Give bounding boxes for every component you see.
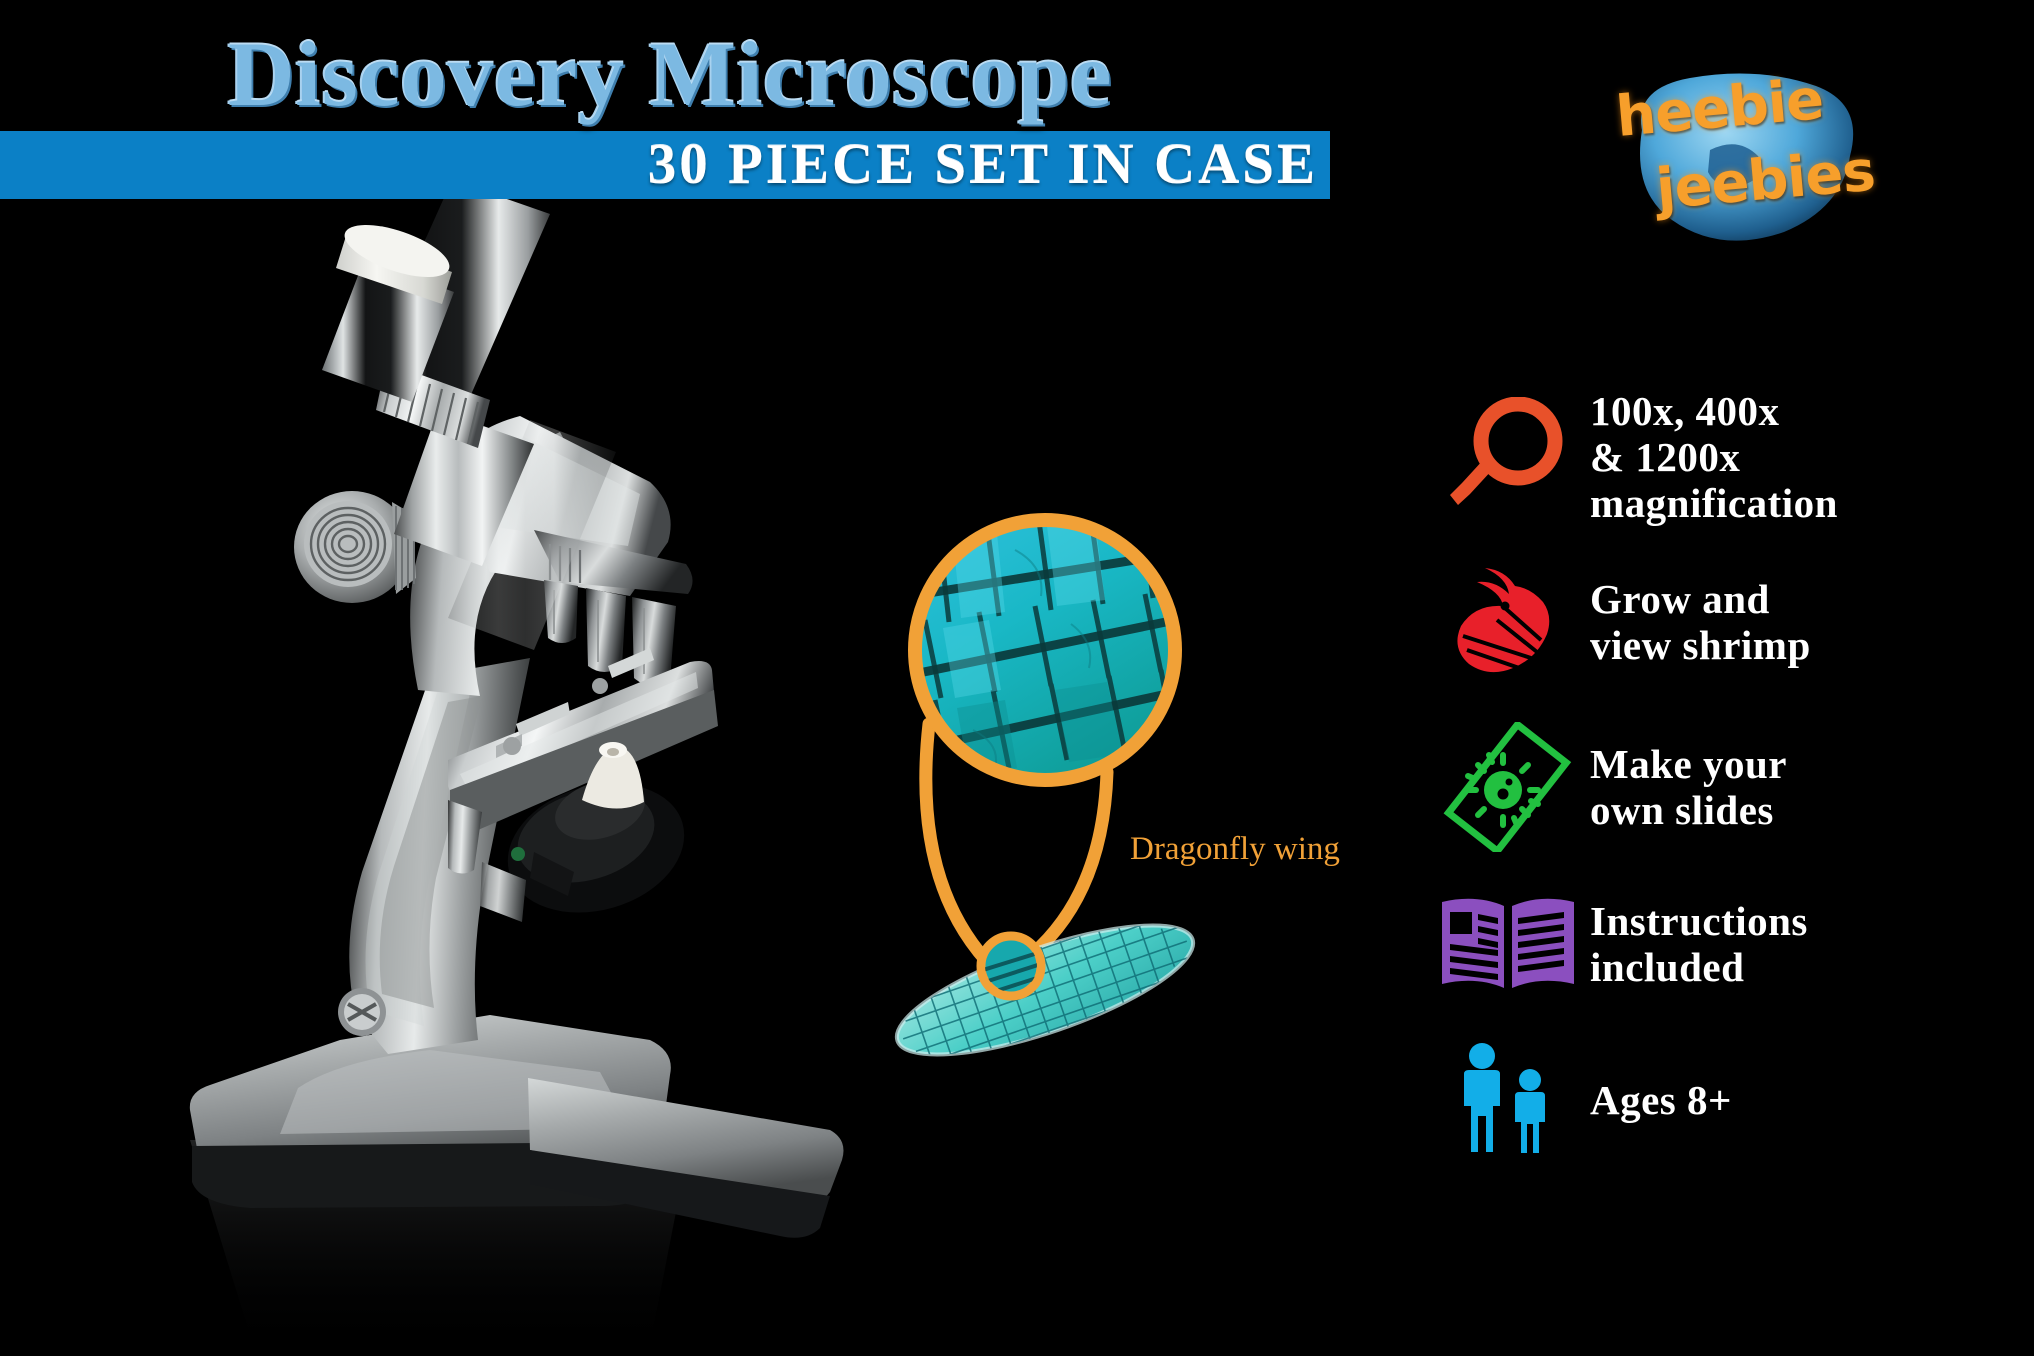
dragonfly-wing-shape — [883, 898, 1207, 1083]
specimen-callout — [845, 500, 1325, 1100]
feature-slides-text: Make your own slides — [1590, 741, 1787, 833]
page-title: Discovery Microscope — [0, 28, 1340, 120]
feature-shrimp: Grow and view shrimp — [1425, 546, 2025, 698]
microscope-photo — [130, 110, 880, 1356]
shrimp-icon — [1425, 562, 1590, 682]
feature-list: 100x, 400x & 1200x magnification — [1425, 382, 2025, 1189]
package-front-panel: Discovery Microscope 30 PIECE SET IN CAS… — [0, 0, 2034, 1356]
specimen-label: Dragonfly wing — [1120, 830, 1350, 869]
brand-logo[interactable]: heebie jeebies — [1598, 52, 1898, 257]
feature-shrimp-text: Grow and view shrimp — [1590, 576, 1811, 668]
subtitle-text: 30 PIECE SET IN CASE — [0, 134, 1318, 196]
feature-instructions-text: Instructions included — [1590, 898, 1808, 990]
feature-magnification-text: 100x, 400x & 1200x magnification — [1590, 388, 1838, 526]
slide-icon — [1425, 722, 1590, 852]
magnifier-icon — [1425, 397, 1590, 517]
feature-magnification: 100x, 400x & 1200x magnification — [1425, 382, 2025, 532]
feature-ages-text: Ages 8+ — [1590, 1077, 1732, 1123]
feature-slides: Make your own slides — [1425, 712, 2025, 862]
people-icon — [1425, 1040, 1590, 1160]
book-icon — [1425, 892, 1590, 996]
feature-instructions: Instructions included — [1425, 876, 2025, 1011]
title-block: Discovery Microscope 30 PIECE SET IN CAS… — [0, 0, 1340, 210]
feature-ages: Ages 8+ — [1425, 1025, 2025, 1175]
